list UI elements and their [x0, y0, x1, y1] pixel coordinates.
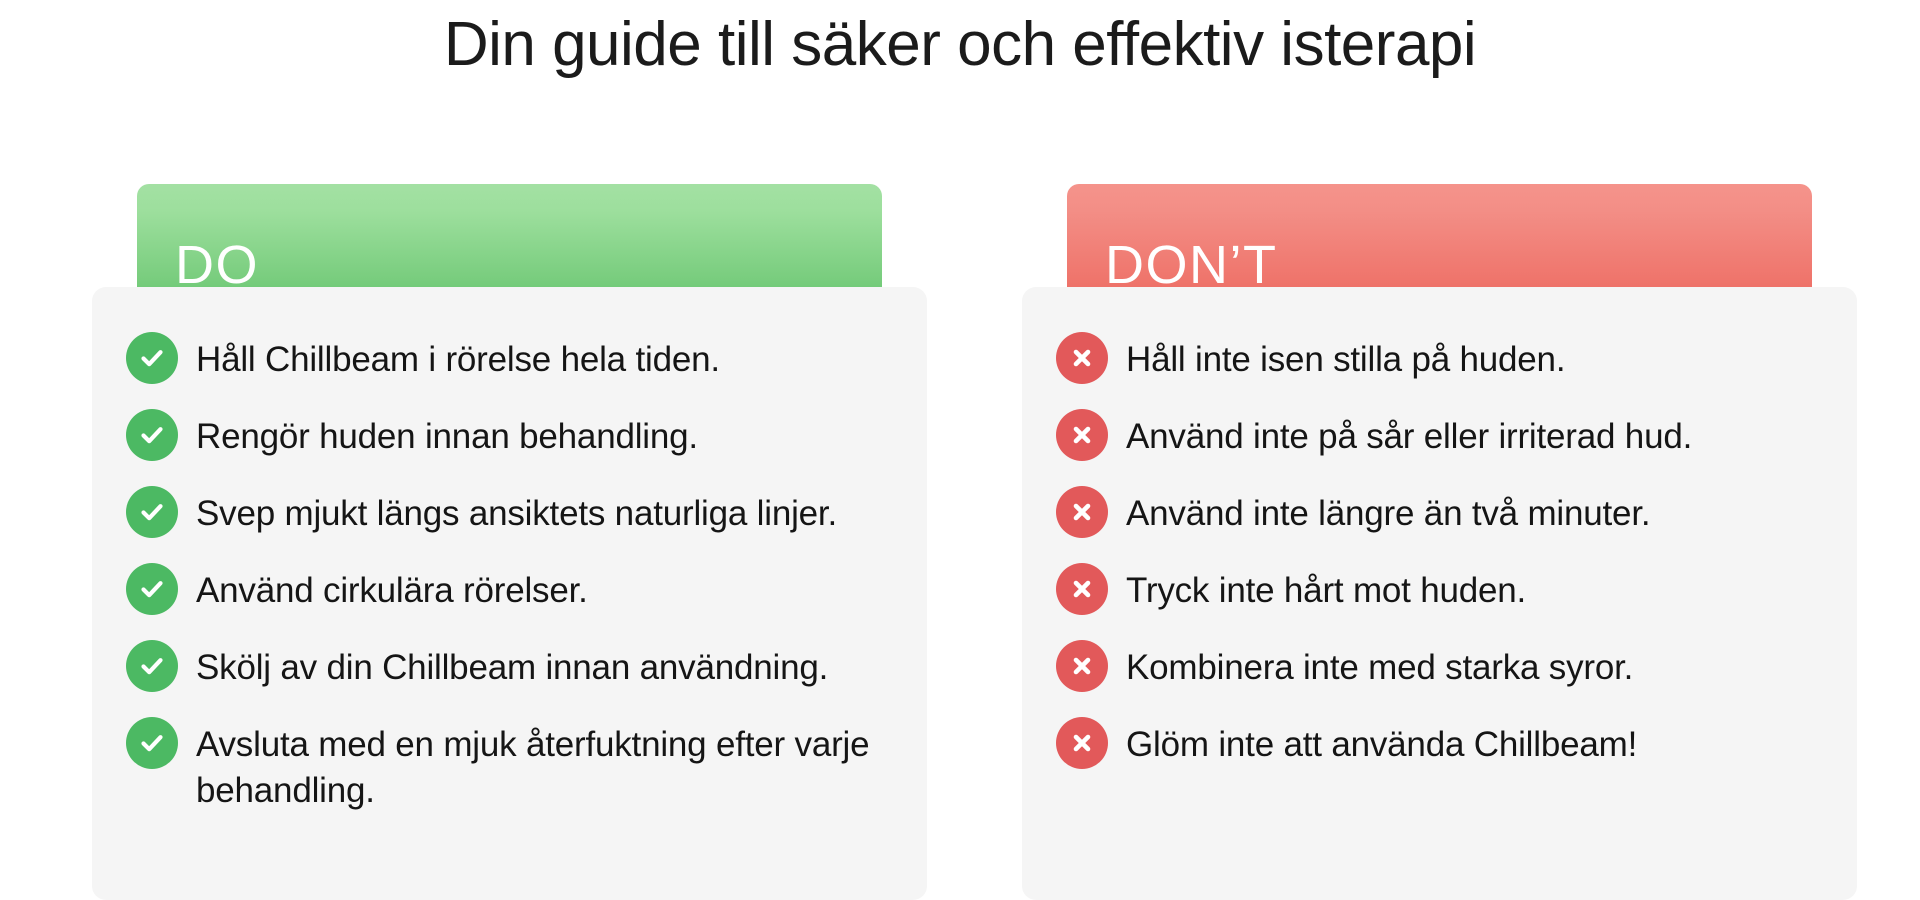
dont-item-text: Glöm inte att använda Chillbeam! [1126, 720, 1637, 768]
x-circle-icon [1056, 332, 1108, 384]
list-item: Håll Chillbeam i rörelse hela tiden. [126, 335, 893, 384]
check-circle-icon [126, 563, 178, 615]
guide-columns: DO Håll Chillbeam i rörelse hela tiden. [0, 184, 1920, 900]
do-item-text: Rengör huden innan behandling. [196, 412, 698, 460]
x-circle-icon [1056, 640, 1108, 692]
list-item: Skölj av din Chillbeam innan användning. [126, 643, 893, 692]
dont-card: Håll inte isen stilla på huden. Använd i… [1022, 287, 1857, 900]
list-item: Kombinera inte med starka syror. [1056, 643, 1823, 692]
check-circle-icon [126, 486, 178, 538]
list-item: Glöm inte att använda Chillbeam! [1056, 720, 1823, 769]
list-item: Använd cirkulära rörelser. [126, 566, 893, 615]
x-circle-icon [1056, 409, 1108, 461]
do-item-text: Svep mjukt längs ansiktets naturliga lin… [196, 489, 837, 537]
check-circle-icon [126, 640, 178, 692]
x-circle-icon [1056, 717, 1108, 769]
dont-item-text: Använd inte längre än två minuter. [1126, 489, 1650, 537]
list-item: Tryck inte hårt mot huden. [1056, 566, 1823, 615]
do-item-text: Avsluta med en mjuk återfuktning efter v… [196, 720, 886, 814]
dont-item-text: Håll inte isen stilla på huden. [1126, 335, 1565, 383]
list-item: Avsluta med en mjuk återfuktning efter v… [126, 720, 893, 814]
list-item: Svep mjukt längs ansiktets naturliga lin… [126, 489, 893, 538]
page-title: Din guide till säker och effektiv istera… [0, 6, 1920, 84]
list-item: Använd inte på sår eller irriterad hud. [1056, 412, 1823, 461]
check-circle-icon [126, 409, 178, 461]
list-item: Håll inte isen stilla på huden. [1056, 335, 1823, 384]
do-card: Håll Chillbeam i rörelse hela tiden. Ren… [92, 287, 927, 900]
check-circle-icon [126, 332, 178, 384]
do-column: DO Håll Chillbeam i rörelse hela tiden. [92, 184, 927, 900]
x-circle-icon [1056, 486, 1108, 538]
dont-item-text: Använd inte på sår eller irriterad hud. [1126, 412, 1692, 460]
check-circle-icon [126, 717, 178, 769]
list-item: Rengör huden innan behandling. [126, 412, 893, 461]
do-item-text: Använd cirkulära rörelser. [196, 566, 588, 614]
x-circle-icon [1056, 563, 1108, 615]
do-item-text: Skölj av din Chillbeam innan användning. [196, 643, 828, 691]
do-item-list: Håll Chillbeam i rörelse hela tiden. Ren… [126, 335, 893, 814]
dont-item-text: Kombinera inte med starka syror. [1126, 643, 1633, 691]
dont-column: DON’T Håll inte isen stilla på huden. [1022, 184, 1857, 900]
list-item: Använd inte längre än två minuter. [1056, 489, 1823, 538]
do-item-text: Håll Chillbeam i rörelse hela tiden. [196, 335, 720, 383]
dont-item-text: Tryck inte hårt mot huden. [1126, 566, 1526, 614]
guide-page: Din guide till säker och effektiv istera… [0, 0, 1920, 900]
dont-item-list: Håll inte isen stilla på huden. Använd i… [1056, 335, 1823, 769]
